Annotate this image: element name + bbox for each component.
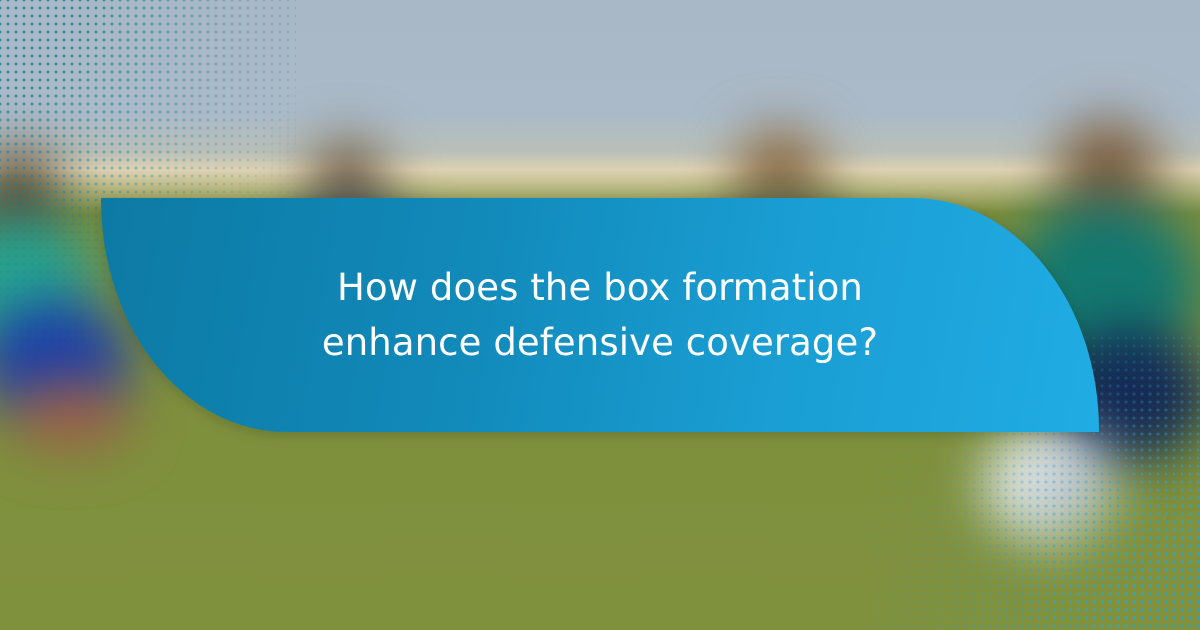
social-card: How does the box formation enhance defen…	[0, 0, 1200, 630]
page-title: How does the box formation enhance defen…	[240, 260, 960, 371]
player-left-legs	[10, 380, 130, 450]
title-banner: How does the box formation enhance defen…	[101, 198, 1099, 432]
